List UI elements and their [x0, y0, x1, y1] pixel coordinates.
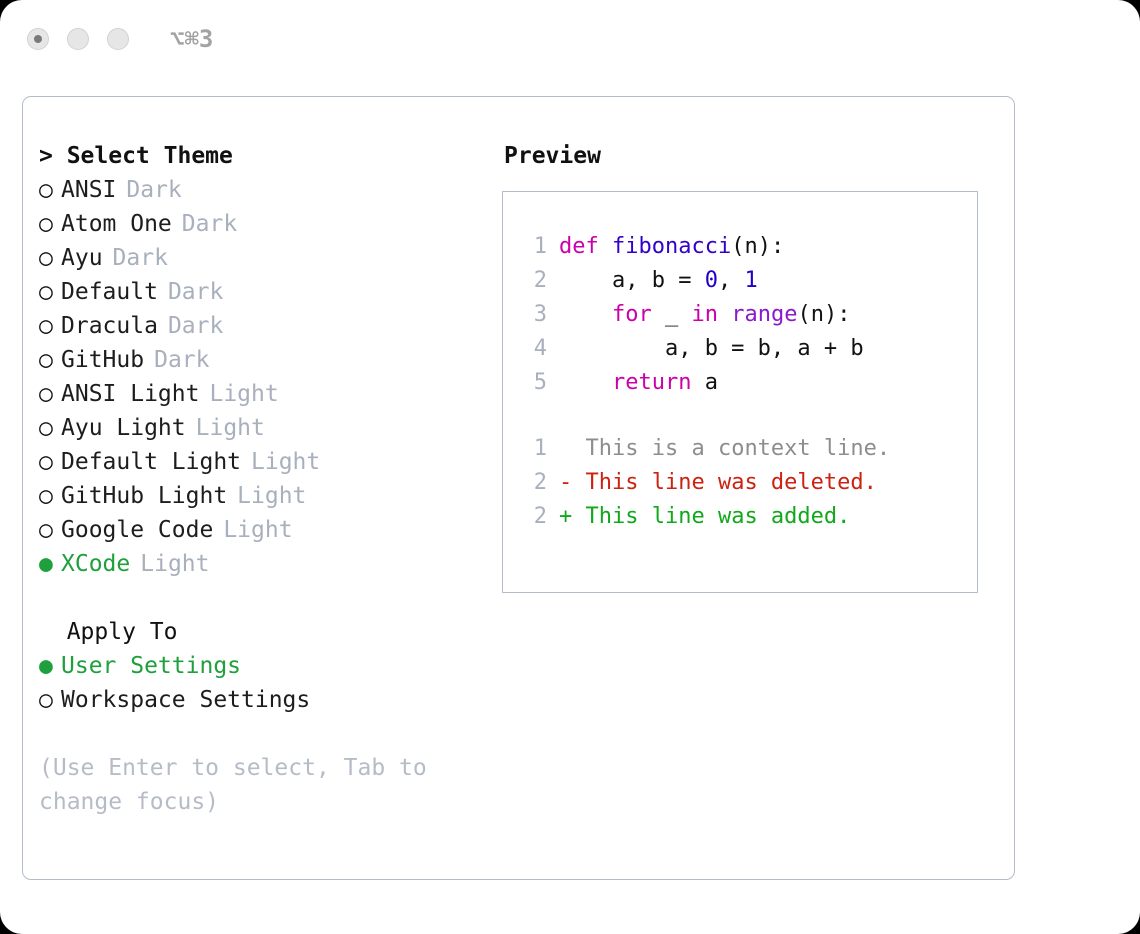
code-line-number: 1	[521, 230, 559, 264]
theme-option-label: ANSI Light	[61, 377, 199, 411]
theme-option-tag: Dark	[116, 173, 181, 207]
theme-option-label: ANSI	[61, 173, 116, 207]
code-token-kw: in	[691, 302, 718, 327]
apply-to-heading: Apply To	[39, 615, 502, 649]
theme-option-list: ○ANSIDark○Atom OneDark○AyuDark○DefaultDa…	[39, 173, 502, 581]
code-token-pl: a, b =	[559, 268, 705, 293]
hint-spacer	[39, 717, 502, 751]
code-line: 4 a, b = b, a + b	[521, 332, 977, 366]
diff-marker	[559, 432, 586, 466]
theme-option-ayu-light[interactable]: ○Ayu LightLight	[39, 411, 502, 445]
theme-option-tag: Light	[213, 513, 292, 547]
radio-selected-icon: ●	[39, 649, 61, 683]
code-token-pl	[718, 302, 731, 327]
code-line-number: 4	[521, 332, 559, 366]
radio-unselected-icon: ○	[39, 309, 61, 343]
theme-option-google-code[interactable]: ○Google CodeLight	[39, 513, 502, 547]
diff-line-text: This is a context line.	[586, 432, 891, 466]
diff-marker: +	[559, 500, 586, 534]
code-token-bi: range	[731, 302, 797, 327]
code-token-pl: a, b = b, a + b	[559, 336, 864, 361]
preview-column: Preview 1def fibonacci(n):2 a, b = 0, 13…	[502, 139, 1014, 593]
code-token-pl: (n):	[731, 234, 784, 259]
title-bar: ⌥⌘3	[0, 0, 1140, 78]
diff-line-number: 1	[521, 432, 559, 466]
theme-option-label: GitHub Light	[61, 479, 227, 513]
code-line-text: for _ in range(n):	[559, 298, 850, 332]
code-line-text: def fibonacci(n):	[559, 230, 784, 264]
code-token-pl: ,	[718, 268, 745, 293]
list-spacer	[39, 581, 502, 615]
theme-option-label: Atom One	[61, 207, 172, 241]
code-sample: 1def fibonacci(n):2 a, b = 0, 13 for _ i…	[521, 230, 977, 400]
code-line: 5 return a	[521, 366, 977, 400]
keyboard-hint-text: (Use Enter to select, Tab to change focu…	[39, 751, 439, 819]
theme-option-xcode[interactable]: ●XCodeLight	[39, 547, 502, 581]
window-controls	[27, 28, 129, 50]
radio-unselected-icon: ○	[39, 207, 61, 241]
diff-sample: 1 This is a context line.2- This line wa…	[521, 432, 977, 534]
code-token-pl: a	[691, 370, 718, 395]
theme-option-label: GitHub	[61, 343, 144, 377]
keyboard-shortcut-label: ⌥⌘3	[170, 27, 213, 51]
theme-option-tag: Light	[186, 411, 265, 445]
theme-option-tag: Light	[227, 479, 306, 513]
theme-option-github-light[interactable]: ○GitHub LightLight	[39, 479, 502, 513]
code-token-pl	[559, 302, 612, 327]
diff-line-text: This line was added.	[586, 500, 851, 534]
code-token-pl	[559, 370, 612, 395]
window-dot-2-icon[interactable]	[67, 28, 89, 50]
preview-heading: Preview	[504, 139, 1014, 173]
diff-marker: -	[559, 466, 586, 500]
apply-to-option-list: ●User Settings○Workspace Settings	[39, 649, 502, 717]
recording-dot-inner	[34, 35, 42, 43]
theme-option-tag: Dark	[158, 309, 223, 343]
code-line-number: 5	[521, 366, 559, 400]
code-token-pl: _	[652, 302, 692, 327]
diff-line: 2+ This line was added.	[521, 500, 977, 534]
theme-option-atom-one[interactable]: ○Atom OneDark	[39, 207, 502, 241]
theme-option-tag: Light	[130, 547, 209, 581]
code-line-text: a, b = 0, 1	[559, 264, 758, 298]
radio-unselected-icon: ○	[39, 343, 61, 377]
theme-option-tag: Light	[241, 445, 320, 479]
theme-option-default-light[interactable]: ○Default LightLight	[39, 445, 502, 479]
radio-unselected-icon: ○	[39, 479, 61, 513]
theme-option-label: Default Light	[61, 445, 241, 479]
diff-line-number: 2	[521, 466, 559, 500]
apply-to-option-label: User Settings	[61, 649, 241, 683]
apply-to-option-user-settings[interactable]: ●User Settings	[39, 649, 502, 683]
code-token-num: 1	[744, 268, 757, 293]
apply-to-option-workspace-settings[interactable]: ○Workspace Settings	[39, 683, 502, 717]
theme-option-label: Default	[61, 275, 158, 309]
radio-unselected-icon: ○	[39, 173, 61, 207]
radio-unselected-icon: ○	[39, 275, 61, 309]
theme-option-label: Dracula	[61, 309, 158, 343]
code-line: 1def fibonacci(n):	[521, 230, 977, 264]
theme-option-tag: Dark	[172, 207, 237, 241]
code-token-kw: return	[612, 370, 691, 395]
theme-option-label: Ayu Light	[61, 411, 186, 445]
code-line-number: 3	[521, 298, 559, 332]
diff-line: 1 This is a context line.	[521, 432, 977, 466]
code-token-fn: fibonacci	[612, 234, 731, 259]
radio-unselected-icon: ○	[39, 241, 61, 275]
theme-option-dracula[interactable]: ○DraculaDark	[39, 309, 502, 343]
radio-unselected-icon: ○	[39, 377, 61, 411]
app-window: ⌥⌘3 > Select Theme ○ANSIDark○Atom OneDar…	[0, 0, 1140, 934]
code-line-text: a, b = b, a + b	[559, 332, 864, 366]
theme-option-default[interactable]: ○DefaultDark	[39, 275, 502, 309]
preview-gap	[521, 400, 977, 432]
code-line: 3 for _ in range(n):	[521, 298, 977, 332]
theme-option-label: Google Code	[61, 513, 213, 547]
radio-unselected-icon: ○	[39, 411, 61, 445]
main-panel: > Select Theme ○ANSIDark○Atom OneDark○Ay…	[22, 96, 1015, 880]
theme-option-ayu[interactable]: ○AyuDark	[39, 241, 502, 275]
diff-line-text: This line was deleted.	[586, 466, 877, 500]
theme-option-tag: Dark	[158, 275, 223, 309]
radio-unselected-icon: ○	[39, 683, 61, 717]
code-token-kw: for	[612, 302, 652, 327]
theme-option-tag: Dark	[144, 343, 209, 377]
diff-line-number: 2	[521, 500, 559, 534]
window-dot-3-icon[interactable]	[107, 28, 129, 50]
code-line-text: return a	[559, 366, 718, 400]
theme-option-ansi[interactable]: ○ANSIDark	[39, 173, 502, 207]
radio-unselected-icon: ○	[39, 445, 61, 479]
code-token-kw: def	[559, 234, 612, 259]
preview-box: 1def fibonacci(n):2 a, b = 0, 13 for _ i…	[502, 191, 978, 593]
theme-option-label: Ayu	[61, 241, 103, 275]
theme-option-github[interactable]: ○GitHubDark	[39, 343, 502, 377]
theme-option-label: XCode	[61, 547, 130, 581]
select-theme-heading: > Select Theme	[39, 139, 502, 173]
apply-to-option-label: Workspace Settings	[61, 683, 310, 717]
theme-option-tag: Dark	[103, 241, 168, 275]
code-line: 2 a, b = 0, 1	[521, 264, 977, 298]
recording-dot-icon[interactable]	[27, 28, 49, 50]
radio-unselected-icon: ○	[39, 513, 61, 547]
theme-option-ansi-light[interactable]: ○ANSI LightLight	[39, 377, 502, 411]
theme-option-tag: Light	[199, 377, 278, 411]
diff-line: 2- This line was deleted.	[521, 466, 977, 500]
code-line-number: 2	[521, 264, 559, 298]
code-token-num: 0	[705, 268, 718, 293]
selection-column: > Select Theme ○ANSIDark○Atom OneDark○Ay…	[39, 139, 502, 819]
code-token-pl: (n):	[797, 302, 850, 327]
radio-selected-icon: ●	[39, 547, 61, 581]
